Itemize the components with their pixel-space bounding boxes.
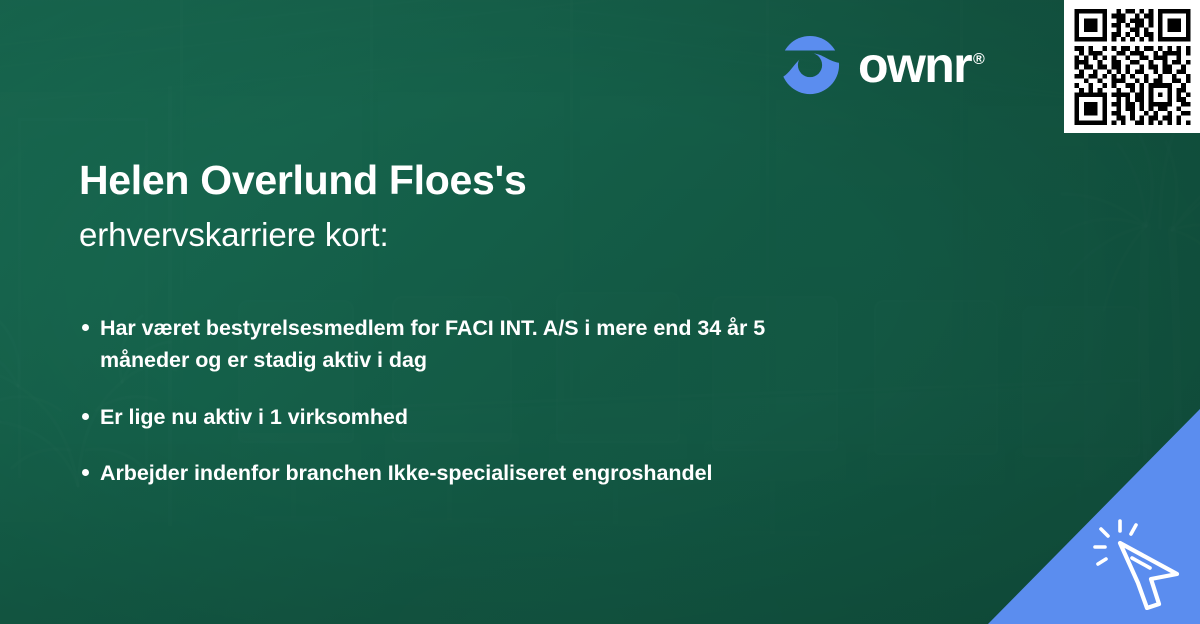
brand-wordmark-text: ownr — [858, 37, 971, 93]
list-item-label: Er lige nu aktiv i 1 virksomhed — [100, 402, 408, 434]
bullet-icon — [82, 469, 89, 476]
person-name: Helen Overlund Floes's — [79, 156, 959, 204]
background-photo — [0, 0, 1200, 624]
list-item-label: Arbejder indenfor branchen Ikke-speciali… — [100, 458, 712, 490]
list-item: Arbejder indenfor branchen Ikke-speciali… — [82, 458, 982, 490]
vignette-overlay — [0, 0, 1200, 624]
page-subtitle: erhvervskarriere kort: — [79, 214, 959, 255]
bullet-icon — [82, 413, 89, 420]
bullet-icon — [82, 324, 89, 331]
qr-code[interactable] — [1064, 0, 1200, 133]
facts-list: Har været bestyrelsesmedlem for FACI INT… — [82, 313, 982, 490]
brand-logo[interactable]: ownr® — [779, 34, 983, 96]
cursor-click-icon — [1093, 518, 1185, 610]
page-title: Helen Overlund Floes's erhvervskarriere … — [79, 156, 959, 256]
ownr-circle-swoosh-logo-icon — [779, 34, 841, 96]
brand-wordmark: ownr® — [858, 40, 983, 90]
list-item-label: Har været bestyrelsesmedlem for FACI INT… — [100, 313, 845, 377]
career-card: ownr® — [0, 0, 1200, 624]
list-item: Er lige nu aktiv i 1 virksomhed — [82, 402, 982, 434]
list-item: Har været bestyrelsesmedlem for FACI INT… — [82, 313, 982, 377]
registered-trademark-icon: ® — [973, 51, 983, 68]
